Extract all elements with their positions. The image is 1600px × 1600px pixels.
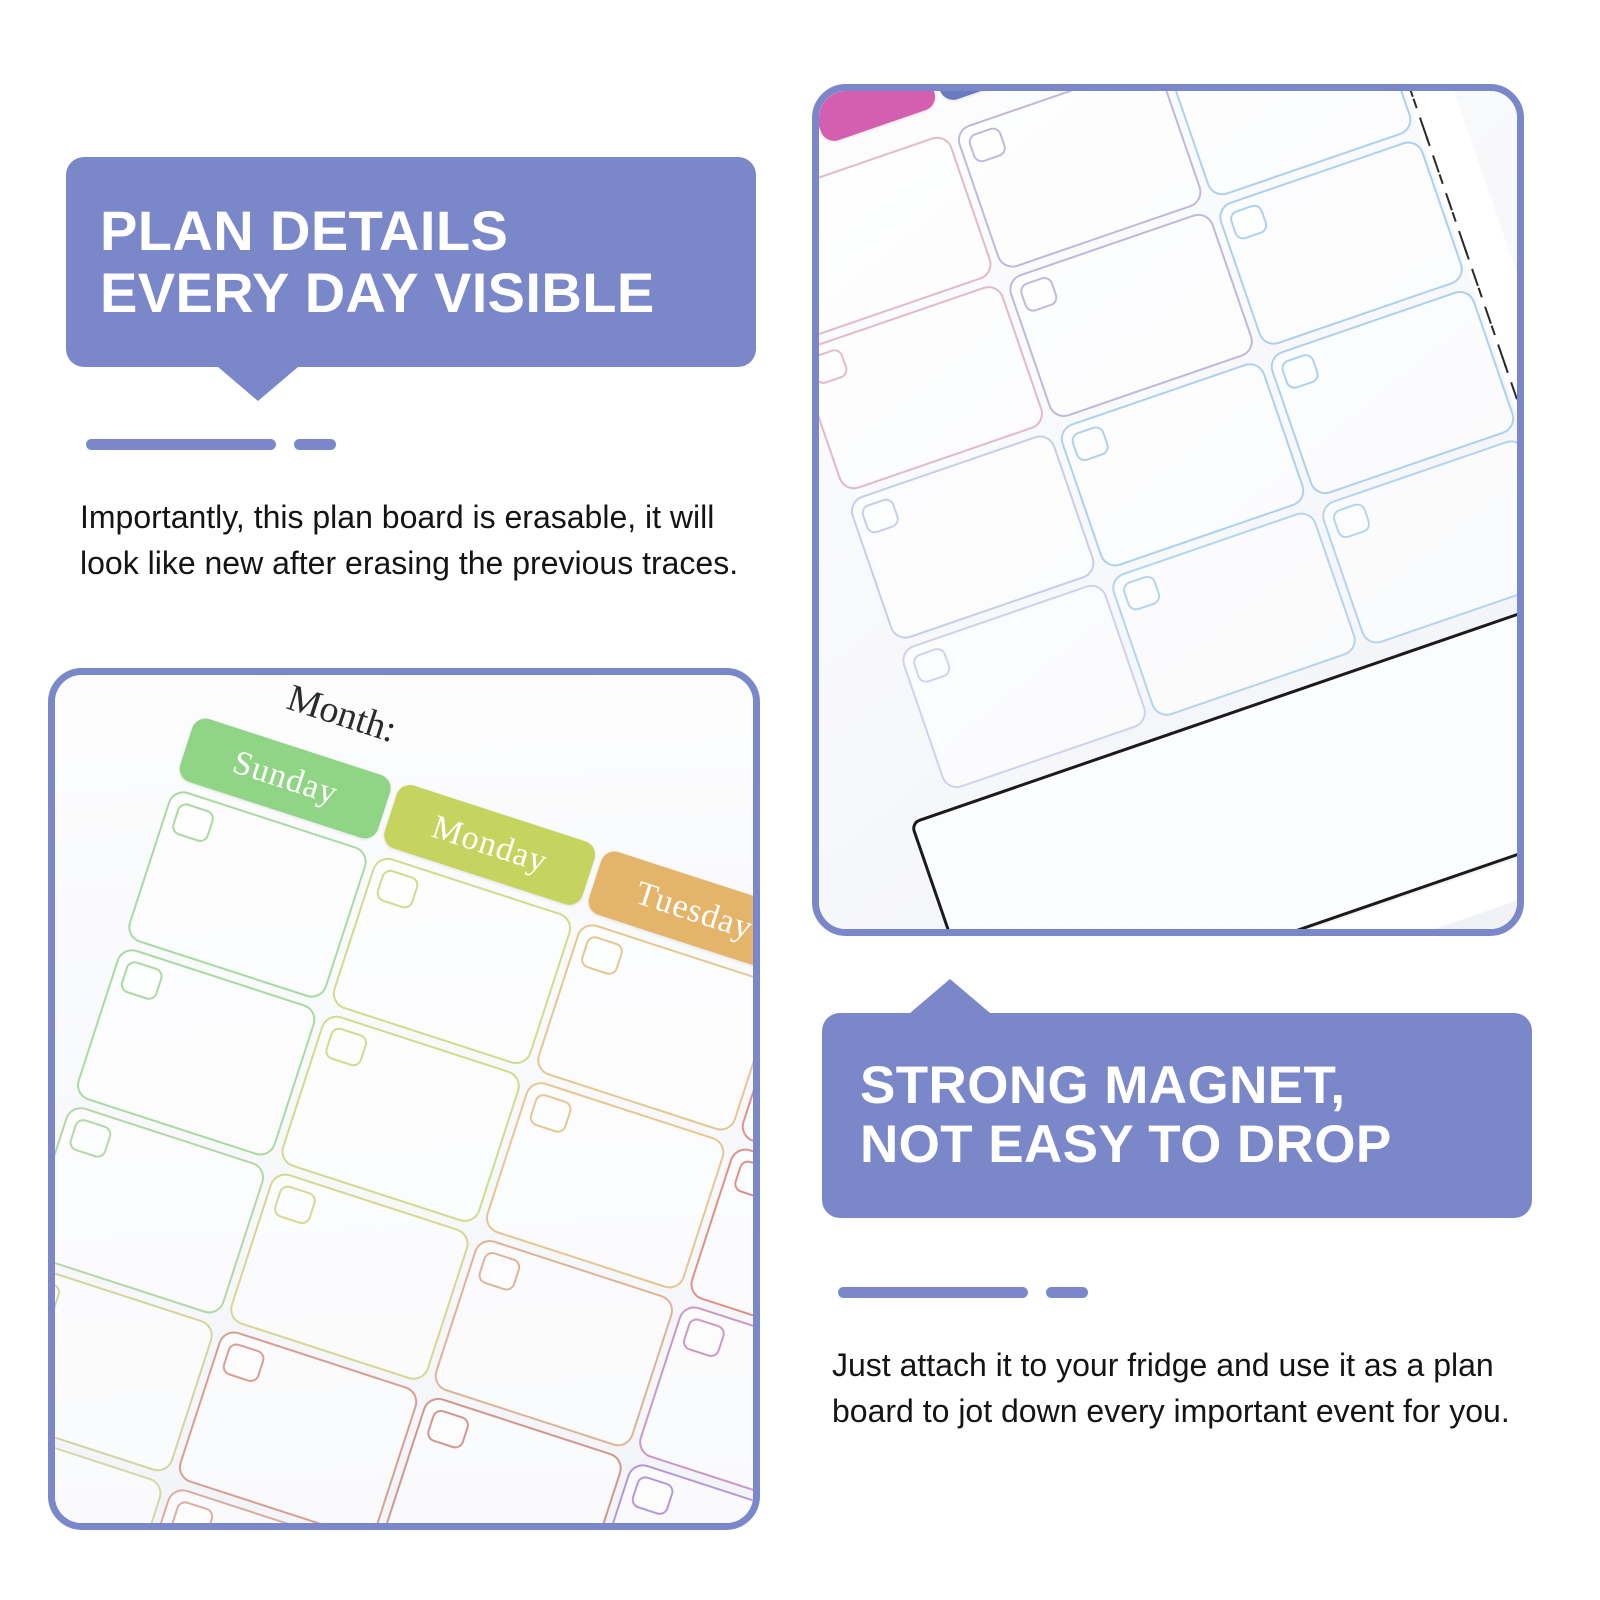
headline-line-1: PLAN DETAILS (100, 200, 722, 262)
divider-strong-magnet (838, 1287, 1088, 1298)
day-pill-label: Monday (427, 808, 552, 881)
divider-dash-short (294, 439, 336, 450)
divider-dash-long (86, 439, 276, 450)
headline-banner-plan-details: PLAN DETAILS EVERY DAY VISIBLE (66, 157, 756, 367)
product-photo-frame-top-right: Friday Saturday er (812, 84, 1524, 936)
divider-dash-short (1046, 1287, 1088, 1298)
product-photo-frame-bottom-left: Month: Mon Sunday Monday Tuesday Wednesd… (48, 668, 760, 1530)
headline-line-2: EVERY DAY VISIBLE (100, 262, 722, 324)
product-photo-calendar-closeup: Friday Saturday er (819, 91, 1517, 929)
infographic-canvas: PLAN DETAILS EVERY DAY VISIBLE Important… (0, 0, 1600, 1600)
banner-tail-up-icon (910, 979, 990, 1013)
day-pill-label: Sunday (228, 744, 342, 814)
banner-tail-down-icon (218, 367, 298, 401)
divider-dash-long (838, 1287, 1028, 1298)
headline-banner-strong-magnet: STRONG MAGNET, NOT EASY TO DROP (822, 1013, 1532, 1218)
body-text-strong-magnet: Just attach it to your fridge and use it… (832, 1343, 1562, 1435)
divider-plan-details (86, 439, 336, 450)
day-pill-thursday-partial (819, 91, 939, 145)
headline-line-1: STRONG MAGNET, (860, 1057, 1494, 1115)
headline-line-2: NOT EASY TO DROP (860, 1116, 1494, 1174)
day-pill-label: Tuesday (631, 875, 753, 949)
product-photo-calendar-header: Month: Mon Sunday Monday Tuesday Wednesd… (55, 675, 753, 1523)
body-text-plan-details: Importantly, this plan board is erasable… (80, 495, 780, 587)
month-field-label: Month: (282, 676, 402, 752)
